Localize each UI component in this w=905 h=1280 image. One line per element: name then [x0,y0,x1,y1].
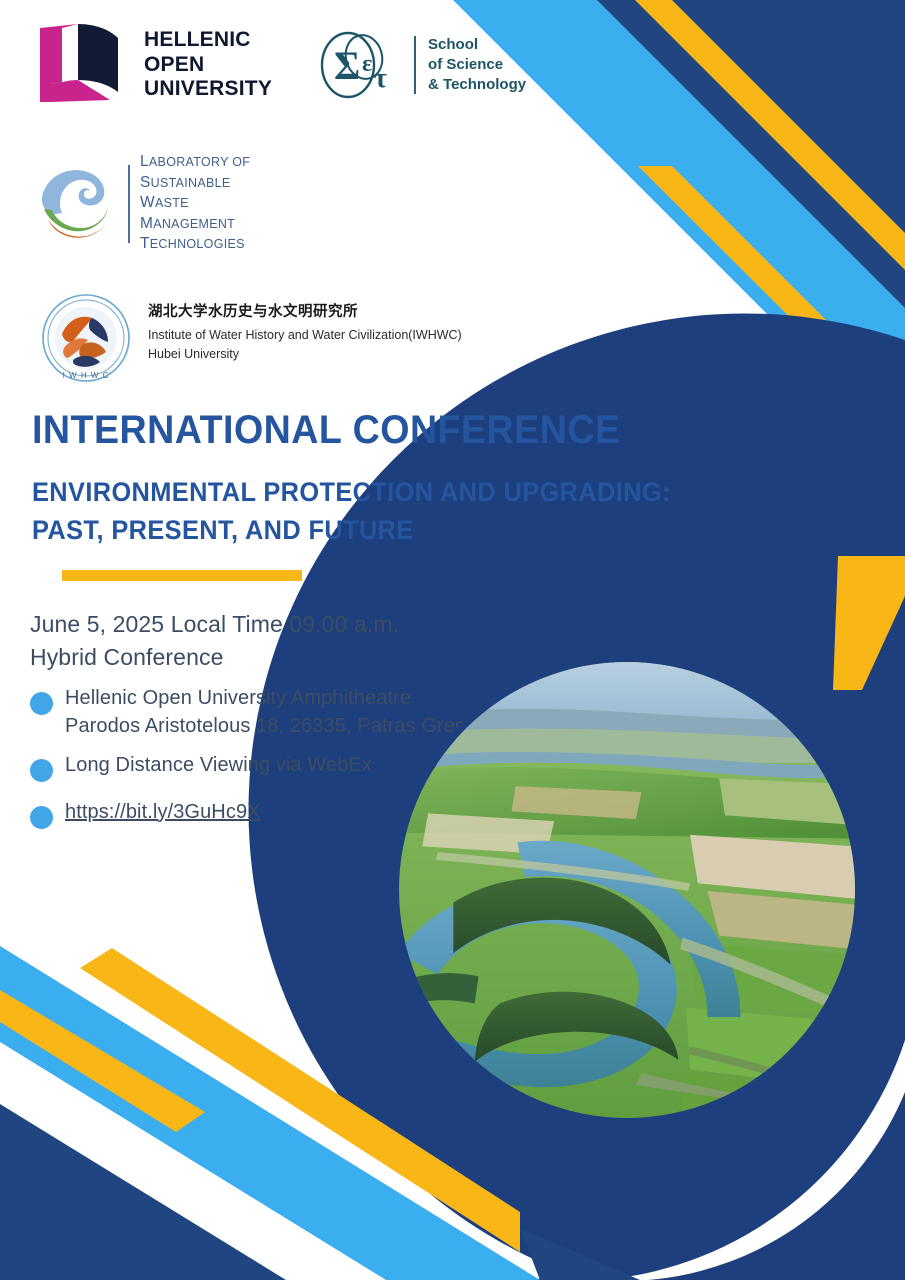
iwhwc-english-line1: Institute of Water History and Water Civ… [148,326,462,345]
laboratory-sustainable-waste-logo: LABORATORY OF SUSTAINABLE WASTE MANAGEME… [36,152,250,255]
venue-address: Hellenic Open University Amphitheatre Pa… [65,685,488,740]
lab-line-3: MANAGEMENT [140,214,250,235]
svg-text:τ: τ [374,63,387,94]
event-format: Hybrid Conference [30,641,500,674]
school-logo-text: School of Science & Technology [428,35,526,96]
aerial-river-landscape-photo [392,655,862,1125]
hou-logo-text: HELLENIC OPEN UNIVERSITY [144,28,272,101]
svg-text:ε: ε [362,51,372,77]
accent-bar [62,570,302,581]
svg-text:Σ: Σ [334,43,360,88]
school-of-science-technology-logo: Σ ε τ School of Science & Technology [318,29,526,101]
svg-text:I W H W C: I W H W C [63,371,110,380]
logo-divider [414,36,416,94]
institute-water-history-logo: I W H W C 湖北大学水历史与水文明研究所 Institute of Wa… [40,292,462,384]
page-title: INTERNATIONAL CONFERENCE [32,410,621,450]
hou-line3: UNIVERSITY [144,77,272,101]
conference-subtitle: ENVIRONMENTAL PROTECTION AND UPGRADING: … [32,473,671,550]
iwhwc-logo-text: 湖北大学水历史与水文明研究所 Institute of Water Histor… [148,292,462,364]
lab-line-2: WASTE [140,193,250,214]
swirl-icon [36,163,118,245]
hellenic-open-university-logo: HELLENIC OPEN UNIVERSITY [34,22,272,108]
lab-line-0: LABORATORY OF [140,152,250,173]
iwhwc-chinese-name: 湖北大学水历史与水文明研究所 [148,302,462,322]
open-book-icon [34,22,130,108]
school-line1: School [428,35,526,55]
school-line2: of Science [428,55,526,75]
river-landscape-illustration [399,662,855,1118]
school-line3: & Technology [428,75,526,95]
subtitle-line2: PAST, PRESENT, AND FUTURE [32,511,671,549]
online-option: Long Distance Viewing via WebEx [65,752,372,780]
venue-street: Parodos Aristotelous 18, 26335, Patras G… [65,715,488,737]
iwhwc-english-line2: Hubei University [148,345,462,364]
venue-name: Hellenic Open University Amphitheatre [65,687,411,709]
list-item: Hellenic Open University Amphitheatre Pa… [30,685,500,740]
lab-line-1: SUSTAINABLE [140,173,250,194]
iwhwc-seal-icon: I W H W C [40,292,132,384]
subtitle-line1: ENVIRONMENTAL PROTECTION AND UPGRADING: [32,473,671,511]
bullet-dot-icon [30,692,53,715]
header-logos: HELLENIC OPEN UNIVERSITY Σ ε τ School of… [34,22,526,108]
event-datetime: June 5, 2025 Local Time 09.00 a.m. [30,608,500,641]
registration-link[interactable]: https://bit.ly/3GuHc9X [65,801,261,823]
lab-logo-text: LABORATORY OF SUSTAINABLE WASTE MANAGEME… [140,152,250,255]
sigma-epsilon-tau-monogram-icon: Σ ε τ [318,29,402,101]
registration-link-wrap: https://bit.ly/3GuHc9X [65,799,261,827]
conference-poster: HELLENIC OPEN UNIVERSITY Σ ε τ School of… [0,0,905,1280]
lab-line-4: TECHNOLOGIES [140,234,250,255]
hou-line1: HELLENIC [144,28,272,52]
bullet-dot-icon [30,806,53,829]
bullet-dot-icon [30,759,53,782]
hou-line2: OPEN [144,53,272,77]
iwhwc-english-name: Institute of Water History and Water Civ… [148,326,462,364]
logo-divider [128,165,130,243]
